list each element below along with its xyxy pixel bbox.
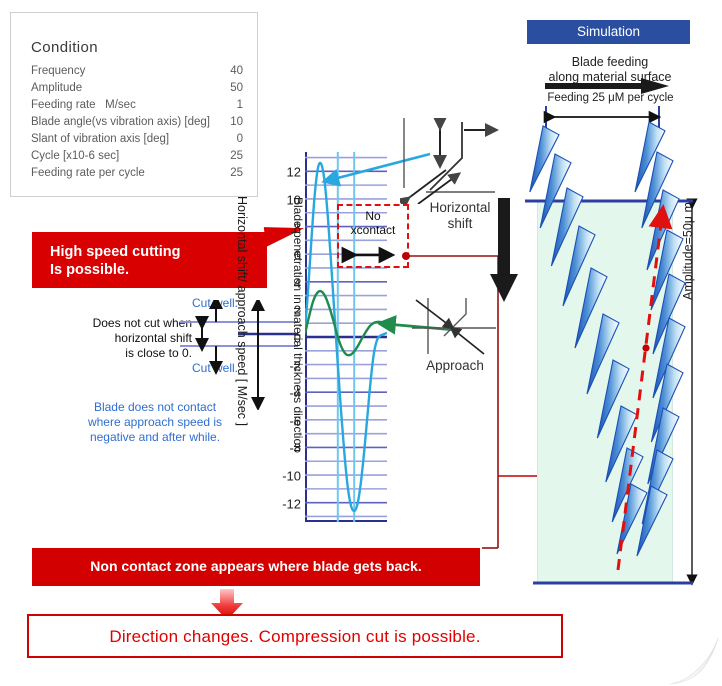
condition-row: Slant of vibration axis [deg] 0 — [31, 133, 243, 150]
condition-row: Amplitude 50 — [31, 82, 243, 99]
y-tick-label: -10 — [282, 469, 301, 484]
high-speed-cutting-text: High speed cutting Is possible. — [50, 243, 181, 279]
condition-row: Frequency 40 — [31, 65, 243, 82]
blade-return-trajectory-arrow — [600, 198, 690, 588]
condition-value: 40 — [230, 65, 243, 77]
page-curl-decoration — [664, 632, 722, 686]
approach-icon-label: Approach — [415, 358, 495, 373]
condition-label: Feeding rate per cycle — [31, 167, 145, 179]
condition-value: 1 — [237, 99, 243, 111]
condition-row: Feeding rate M/sec 1 — [31, 99, 243, 116]
penetration-label: Blade penetration in material thickness … — [291, 197, 305, 437]
condition-row: Blade angle(vs vibration axis) [deg] 10 — [31, 116, 243, 133]
no-contact-zone-label: No xcontact — [337, 209, 409, 237]
condition-value: 10 — [230, 116, 243, 128]
non-contact-zone-text: Non contact zone appears where blade get… — [32, 558, 480, 574]
condition-title: Condition — [31, 39, 98, 56]
simulation-header-label: Simulation — [527, 24, 690, 39]
condition-value: 0 — [237, 133, 243, 145]
condition-row: Cycle [x10-6 sec] 25 — [31, 150, 243, 167]
condition-value: 25 — [230, 167, 243, 179]
condition-label: Cycle [x10-6 sec] — [31, 150, 119, 162]
feeding-per-cycle-label: Feeding 25 μM per cycle — [523, 92, 698, 104]
slide-root: Condition Frequency 40 Amplitude 50 Feed… — [0, 0, 722, 686]
condition-panel: Condition Frequency 40 Amplitude 50 Feed… — [10, 12, 258, 197]
condition-row: Feeding rate per cycle 25 — [31, 167, 243, 184]
chart-y-axis-title: Horizontal shift/ approach speed [ M/sec… — [231, 196, 249, 496]
condition-value: 50 — [230, 82, 243, 94]
condition-label: Amplitude — [31, 82, 82, 94]
simulation-header: Simulation — [527, 20, 690, 44]
condition-label: Slant of vibration axis [deg] — [31, 133, 169, 145]
y-tick-label: 12 — [287, 165, 301, 180]
condition-value: 25 — [230, 150, 243, 162]
condition-label: Blade angle(vs vibration axis) [deg] — [31, 116, 210, 128]
does-not-cut-label: Does not cut when horizontal shift is cl… — [42, 316, 192, 361]
penetration-direction-arrow — [489, 198, 523, 308]
non-contact-zone-banner: Non contact zone appears where blade get… — [32, 548, 480, 586]
condition-label: Feeding rate M/sec — [31, 99, 136, 111]
horizontal-shift-icon — [400, 118, 500, 204]
y-tick-label: -12 — [282, 496, 301, 511]
condition-label: Frequency — [31, 65, 85, 77]
horizontal-shift-icon-label: Horizontal shift — [420, 200, 500, 232]
direction-changes-text: Direction changes. Compression cut is po… — [29, 627, 561, 647]
direction-changes-banner: Direction changes. Compression cut is po… — [27, 614, 563, 658]
